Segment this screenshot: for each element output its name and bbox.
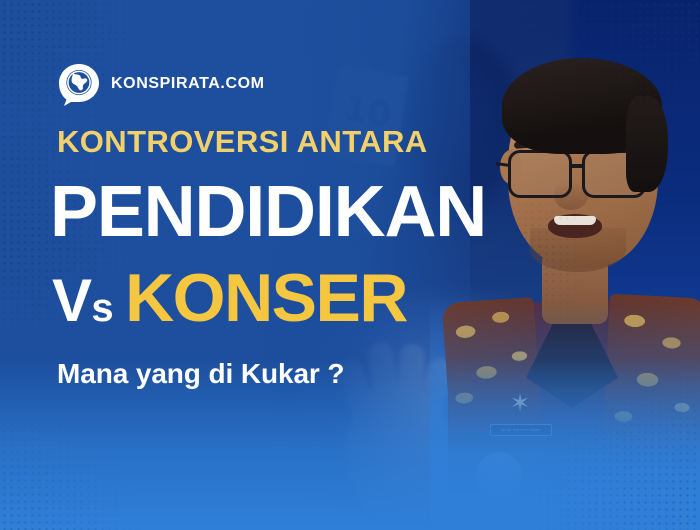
headline-vs-line: VsKONSER bbox=[52, 264, 407, 332]
headline-question: Mana yang di Kukar ? bbox=[57, 358, 344, 390]
headline-eyebrow: KONTROVERSI ANTARA bbox=[57, 124, 428, 160]
headline-block: KONTROVERSI ANTARA PENDIDIKAN VsKONSER M… bbox=[0, 0, 700, 530]
thumbnail-canvas: 10 ✶ Aulia Rahman Basri bbox=[0, 0, 700, 530]
vs-suffix: s bbox=[91, 286, 113, 330]
headline-vs-subject: KONSER bbox=[125, 260, 407, 336]
headline-main: PENDIDIKAN bbox=[50, 176, 486, 248]
vs-prefix: V bbox=[52, 267, 91, 334]
